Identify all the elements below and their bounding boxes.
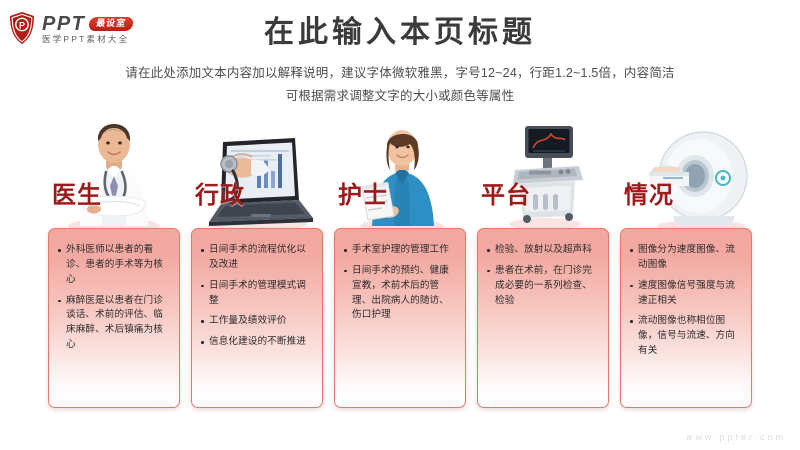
- list-item: 检验、放射以及超声科: [486, 243, 599, 258]
- bullet-list-situation: 图像分为速度图像、流动图像 速度图像信号强度与流速正相关 流动图像也称相位图像，…: [629, 243, 742, 359]
- column-platform: 平台 检验、放射以及超声科 患者在术前，在门诊完成必要的一系列检查、检验: [477, 112, 609, 412]
- subtitle-line-2: 可根据需求调整文字的大小或颜色等属性: [60, 85, 740, 108]
- mri-scanner-photo: [620, 112, 752, 232]
- column-nurse: 护士 手术室护理的管理工作 日间手术的预约、健康宣教，术前术后的管理、出院病人的…: [334, 112, 466, 412]
- column-card-doctor: 外科医师以患者的看诊、患者的手术等为核心 麻醉医是以患者在门诊谈话、术前的评估、…: [48, 228, 180, 408]
- column-administration: 行政 日间手术的流程优化以及改进 日间手术的管理模式调整 工作量及绩效评价 信息…: [191, 112, 323, 412]
- column-card-situation: 图像分为速度图像、流动图像 速度图像信号强度与流速正相关 流动图像也称相位图像，…: [620, 228, 752, 408]
- column-heading-administration: 行政: [195, 184, 245, 208]
- column-doctor: 医生 外科医师以患者的看诊、患者的手术等为核心 麻醉医是以患者在门诊谈话、术前的…: [48, 112, 180, 412]
- page-title: 在此输入本页标题: [0, 16, 800, 49]
- nurse-photo: [334, 112, 466, 232]
- list-item: 患者在术前，在门诊完成必要的一系列检查、检验: [486, 264, 599, 309]
- column-card-administration: 日间手术的流程优化以及改进 日间手术的管理模式调整 工作量及绩效评价 信息化建设…: [191, 228, 323, 408]
- list-item: 麻醉医是以患者在门诊谈话、术前的评估、临床麻醉、术后镇痛为核心: [57, 294, 170, 353]
- column-card-platform: 检验、放射以及超声科 患者在术前，在门诊完成必要的一系列检查、检验: [477, 228, 609, 408]
- list-item: 图像分为速度图像、流动图像: [629, 243, 742, 273]
- column-heading-platform: 平台: [481, 184, 531, 208]
- site-watermark: www.ppter.com: [686, 432, 786, 442]
- bullet-list-administration: 日间手术的流程优化以及改进 日间手术的管理模式调整 工作量及绩效评价 信息化建设…: [200, 243, 313, 350]
- content-columns: 医生 外科医师以患者的看诊、患者的手术等为核心 麻醉医是以患者在门诊谈话、术前的…: [48, 112, 752, 412]
- list-item: 信息化建设的不断推进: [200, 335, 313, 350]
- column-heading-nurse: 护士: [338, 184, 388, 208]
- column-situation: 情况 图像分为速度图像、流动图像 速度图像信号强度与流速正相关 流动图像也称相位…: [620, 112, 752, 412]
- list-item: 流动图像也称相位图像，信号与流速、方向有关: [629, 314, 742, 359]
- ultrasound-machine-photo: [477, 112, 609, 232]
- list-item: 工作量及绩效评价: [200, 314, 313, 329]
- list-item: 日间手术的管理模式调整: [200, 279, 313, 309]
- list-item: 日间手术的预约、健康宣教，术前术后的管理、出院病人的随访、伤口护理: [343, 264, 456, 323]
- list-item: 外科医师以患者的看诊、患者的手术等为核心: [57, 243, 170, 288]
- laptop-stethoscope-photo: [191, 112, 323, 232]
- bullet-list-platform: 检验、放射以及超声科 患者在术前，在门诊完成必要的一系列检查、检验: [486, 243, 599, 308]
- list-item: 速度图像信号强度与流速正相关: [629, 279, 742, 309]
- doctor-photo: [48, 112, 180, 232]
- list-item: 日间手术的流程优化以及改进: [200, 243, 313, 273]
- subtitle-line-1: 请在此处添加文本内容加以解释说明，建议字体微软雅黑，字号12~24，行距1.2~…: [60, 62, 740, 85]
- page-subtitle: 请在此处添加文本内容加以解释说明，建议字体微软雅黑，字号12~24，行距1.2~…: [60, 62, 740, 108]
- slide-canvas: P PPT 最设室 医学PPT素材大全 在此输入本页标题 请在此处添加文本内容加…: [0, 0, 800, 450]
- column-card-nurse: 手术室护理的管理工作 日间手术的预约、健康宣教，术前术后的管理、出院病人的随访、…: [334, 228, 466, 408]
- bullet-list-doctor: 外科医师以患者的看诊、患者的手术等为核心 麻醉医是以患者在门诊谈话、术前的评估、…: [57, 243, 170, 353]
- list-item: 手术室护理的管理工作: [343, 243, 456, 258]
- column-heading-situation: 情况: [624, 184, 674, 208]
- column-heading-doctor: 医生: [52, 184, 102, 208]
- bullet-list-nurse: 手术室护理的管理工作 日间手术的预约、健康宣教，术前术后的管理、出院病人的随访、…: [343, 243, 456, 323]
